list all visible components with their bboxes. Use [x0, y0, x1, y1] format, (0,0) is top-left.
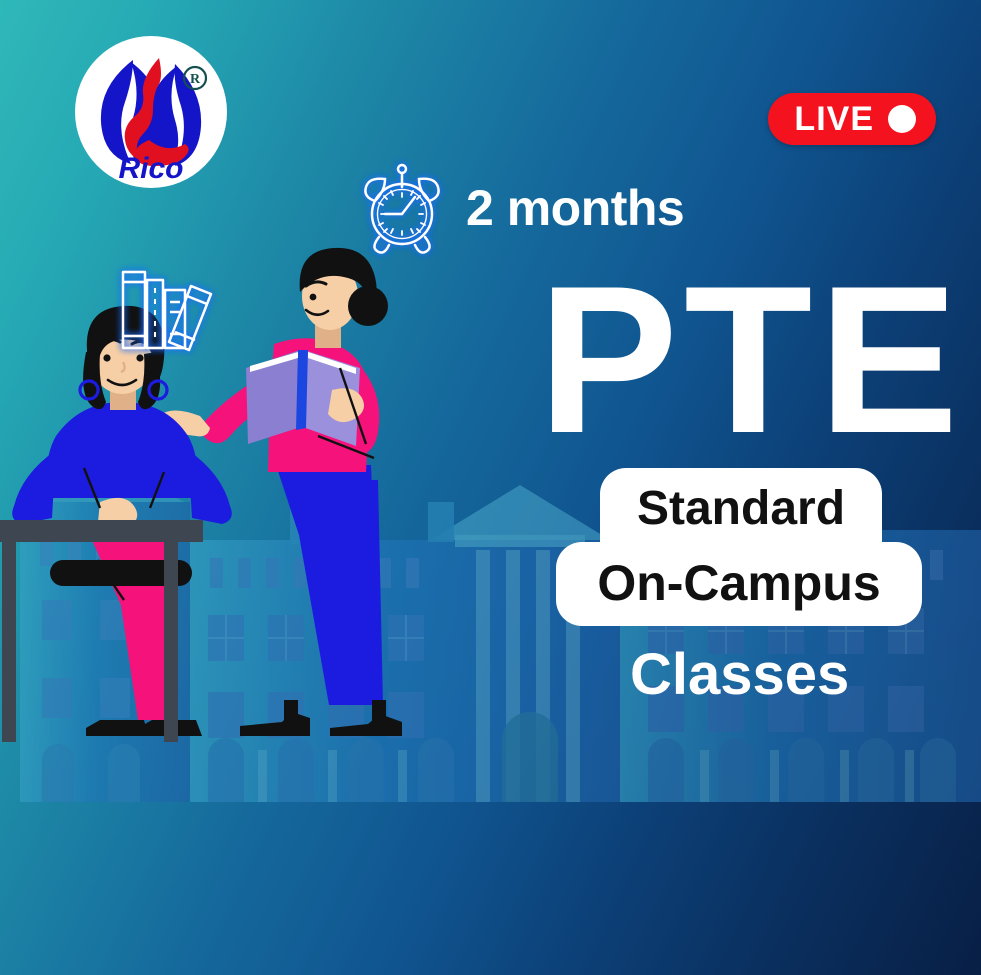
students-and-teacher-illustration	[0, 240, 448, 760]
page-title: PTE	[538, 255, 964, 465]
subtitle: Classes	[630, 646, 849, 704]
alarm-clock-icon	[355, 157, 450, 262]
live-dot-icon	[888, 105, 916, 133]
books-icon	[113, 252, 223, 357]
promo-poster: R Rico LIVE	[0, 0, 981, 975]
live-badge[interactable]: LIVE	[768, 93, 936, 145]
highlight-boxes: Standard On-Campus	[556, 468, 926, 626]
svg-text:R: R	[190, 72, 201, 87]
highlight-standard: Standard	[600, 468, 882, 546]
highlight-on-campus: On-Campus	[556, 542, 922, 626]
rico-logo: R Rico	[71, 32, 231, 192]
duration-label: 2 months	[466, 183, 684, 233]
live-label: LIVE	[794, 102, 874, 136]
logo-wordmark: Rico	[118, 152, 183, 185]
